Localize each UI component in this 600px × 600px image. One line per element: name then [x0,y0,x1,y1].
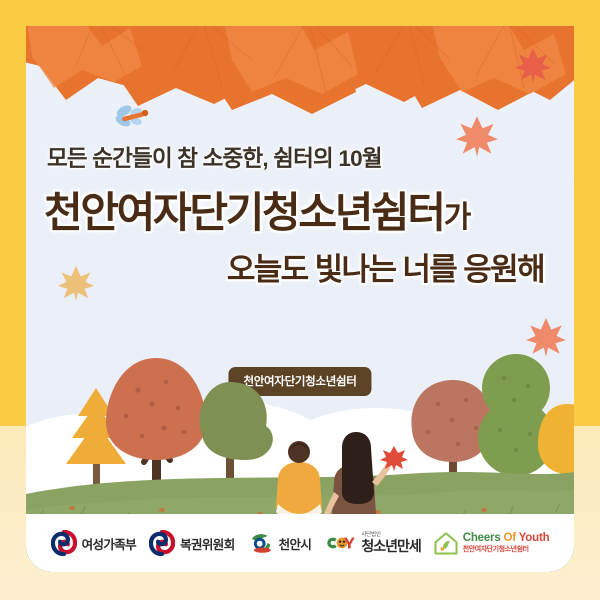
shelter-text-stack: Cheers Of Youth 천안여자단기청소년쉼터 [463,532,550,553]
sponsor-logo-bar: 여성가족부 복권위원회 천안시 [26,514,574,572]
headline-primary-particle: 가 [444,201,471,234]
poster-card: 모든 순간들이 참 소중한, 쉼터의 10월 천안여자단기청소년쉼터가 오늘도 … [26,26,574,572]
house-bird-icon [434,531,458,555]
poster-root: 모든 순간들이 참 소중한, 쉼터의 10월 천안여자단기청소년쉼터가 오늘도 … [0,0,600,600]
headline-secondary: 오늘도 빛나는 너를 응원해 [26,254,574,285]
shelter-kr-label: 천안여자단기청소년쉼터 [463,546,550,554]
coy-wordmark-icon [324,533,356,553]
logo-mogef: 여성가족부 [51,530,137,556]
shelter-en-label: Cheers Of Youth [463,532,550,545]
shelter-en-word3: Youth [519,532,550,544]
floating-maple-leaf-icon [513,46,553,84]
logo-cheonan-label: 천안시 [279,534,312,553]
logo-coy-org: 사단법인 청소년만세 [324,533,420,553]
headline-primary-text: 천안여자단기청소년쉼터 [44,189,444,236]
shelter-en-word1: Cheers [463,532,501,544]
headline-primary: 천안여자단기청소년쉼터가 [26,192,574,234]
logo-shelter: Cheers Of Youth 천안여자단기청소년쉼터 [434,531,550,555]
subtitle-line: 모든 순간들이 참 소중한, 쉼터의 10월 [26,141,574,173]
korea-gov-taegeuk-icon [51,530,77,556]
logo-lottery: 복권위원회 [149,530,235,556]
shelter-en-word2: Of [504,532,516,544]
dragonfly-icon [112,104,152,134]
logo-mogef-label: 여성가족부 [82,534,137,553]
coy-org-label: 청소년만세 [361,539,420,553]
coy-text-stack: 사단법인 청소년만세 [361,533,420,553]
korea-gov-taegeuk-icon [149,530,175,556]
cheonan-city-mark-icon [248,530,274,556]
logo-lottery-label: 복권위원회 [180,534,235,553]
logo-cheonan: 천안시 [248,530,312,556]
